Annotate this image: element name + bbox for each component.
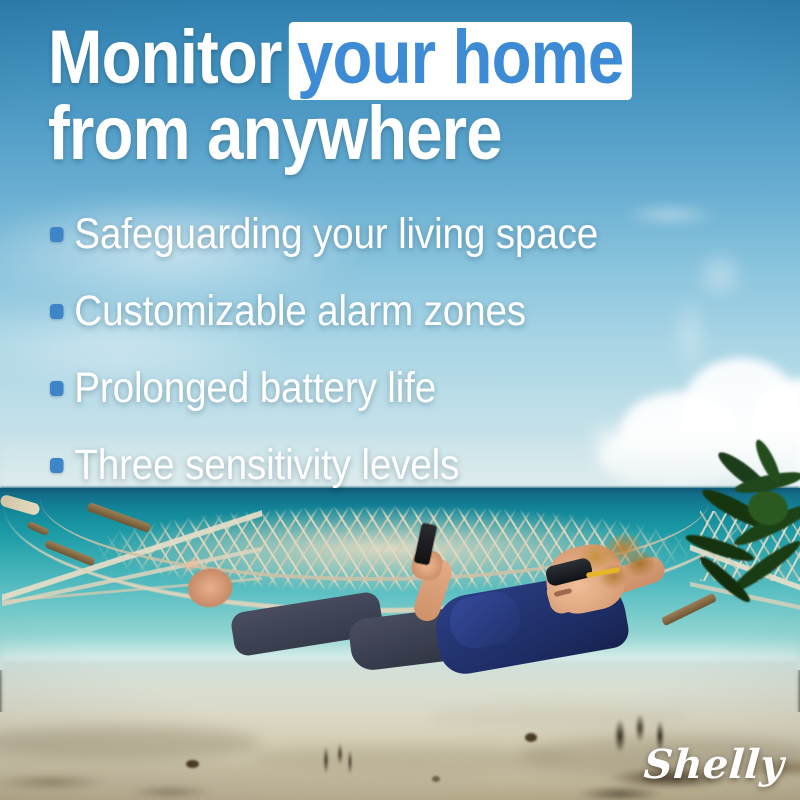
- headline-line-1: Monitoryour home: [48, 22, 667, 100]
- bullet-square-icon: [50, 304, 64, 319]
- headline: Monitoryour home from anywhere: [48, 22, 667, 169]
- promo-image: Monitoryour home from anywhere Safeguard…: [0, 0, 800, 800]
- feature-label: Prolonged battery life: [74, 364, 436, 413]
- feature-label: Three sensitivity levels: [74, 441, 459, 490]
- shelly-logo: Shelly: [642, 741, 785, 788]
- bullet-square-icon: [50, 458, 64, 473]
- bullet-square-icon: [50, 227, 64, 242]
- headline-line-2: from anywhere: [48, 100, 667, 168]
- feature-list: Safeguarding your living space Customiza…: [50, 196, 680, 504]
- feature-label: Safeguarding your living space: [74, 210, 598, 259]
- bullet-square-icon: [50, 381, 64, 396]
- text-overlay: Monitoryour home from anywhere Safeguard…: [0, 0, 800, 800]
- headline-plain-text: Monitor: [48, 15, 282, 100]
- headline-highlight-box: your home: [288, 22, 632, 100]
- list-item: Prolonged battery life: [50, 350, 680, 427]
- list-item: Three sensitivity levels: [50, 427, 680, 504]
- feature-label: Customizable alarm zones: [74, 287, 526, 336]
- list-item: Customizable alarm zones: [50, 273, 680, 350]
- list-item: Safeguarding your living space: [50, 196, 680, 273]
